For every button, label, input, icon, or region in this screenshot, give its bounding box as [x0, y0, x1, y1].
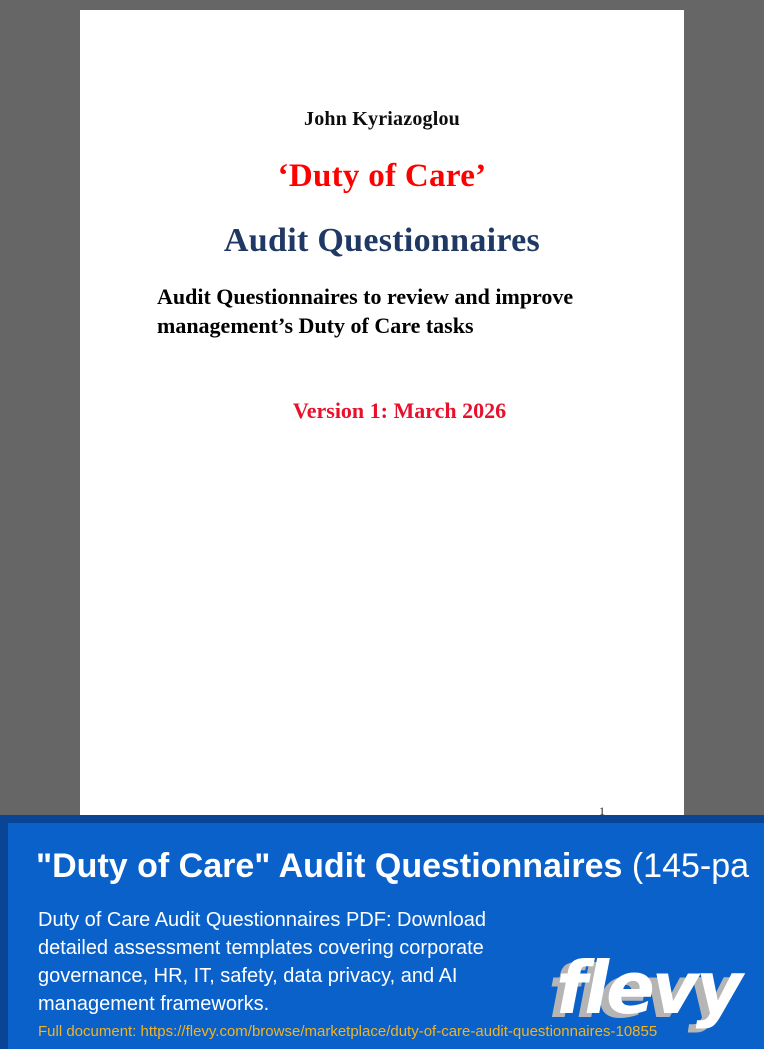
- document-version: Version 1: March 2026: [80, 398, 684, 424]
- promo-heading-subtitle: (145-pa: [622, 847, 749, 885]
- document-subtitle: Audit Questionnaires to review and impro…: [157, 282, 577, 340]
- document-author: John Kyriazoglou: [80, 108, 684, 131]
- promo-description: Duty of Care Audit Questionnaires PDF: D…: [38, 906, 508, 1018]
- promo-banner-panel: "Duty of Care" Audit Questionnaires (145…: [8, 823, 764, 1049]
- document-title-secondary: Audit Questionnaires: [80, 222, 684, 260]
- document-page: John Kyriazoglou ‘Duty of Care’ Audit Qu…: [80, 10, 684, 825]
- flevy-logo: flevy flevy: [556, 949, 756, 1027]
- promo-banner: "Duty of Care" Audit Questionnaires (145…: [0, 815, 764, 1049]
- flevy-logo-text: flevy: [556, 949, 740, 1027]
- promo-heading-title: "Duty of Care" Audit Questionnaires: [36, 847, 622, 885]
- promo-heading: "Duty of Care" Audit Questionnaires (145…: [36, 846, 749, 886]
- document-title-primary: ‘Duty of Care’: [80, 158, 684, 195]
